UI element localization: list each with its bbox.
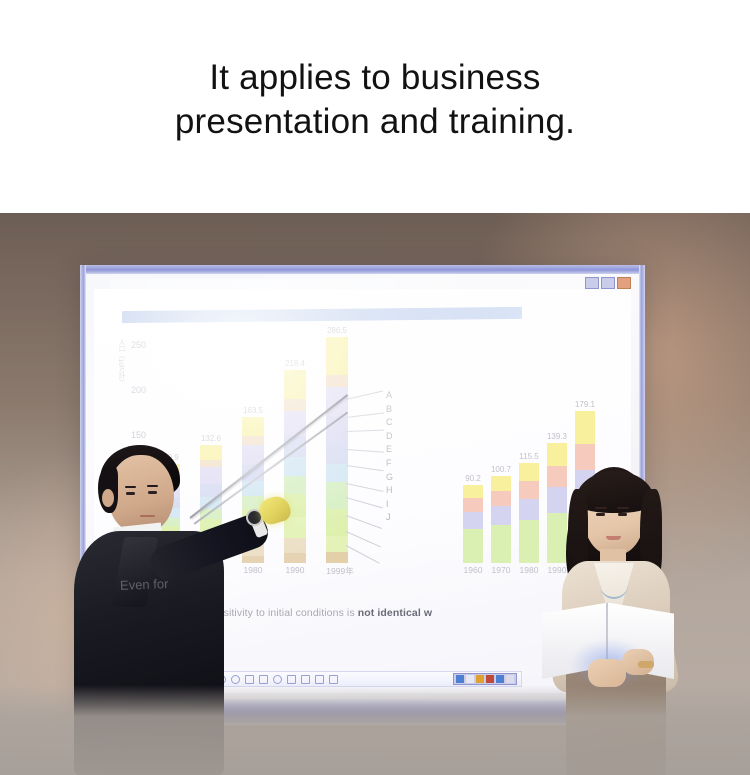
x-tick-1990: 1990 <box>286 565 305 575</box>
woman-eyebrow-left <box>595 507 607 509</box>
segment-L <box>491 491 511 507</box>
segment-base <box>463 529 483 563</box>
segment-E <box>284 457 306 476</box>
bar-value-label: 90.2 <box>465 474 481 483</box>
y-tick-150: 150 <box>131 430 146 440</box>
segment-G <box>326 482 348 509</box>
projected-text-on-suit: Even for <box>120 576 169 593</box>
bar-value-label: 115.5 <box>519 452 538 461</box>
segment-E <box>326 441 348 464</box>
legend-item-A: A <box>386 389 393 403</box>
man-ear <box>102 489 114 507</box>
bar-1999-left: 286.5 <box>326 337 348 563</box>
bar-value-label: 163.5 <box>243 406 263 415</box>
bar-value-label: 100.7 <box>491 465 511 474</box>
segment-H <box>284 517 306 538</box>
segment-J <box>326 552 348 563</box>
bar-value-label: 216.4 <box>285 359 305 368</box>
maximize-icon[interactable] <box>601 277 615 289</box>
segment-M <box>491 506 511 524</box>
y-tick-200: 200 <box>131 385 146 395</box>
y-axis-title: 人口（10万計） <box>114 339 124 385</box>
bar-value-label: 286.5 <box>327 326 347 335</box>
color-tool-icon[interactable] <box>476 675 484 683</box>
bar-value-label: 132.6 <box>201 434 221 443</box>
text-tool-icon[interactable] <box>466 675 474 683</box>
segment-M <box>463 512 483 528</box>
pen-icon[interactable] <box>273 675 282 684</box>
bar-value-label: 139.3 <box>547 432 567 441</box>
slide-title-banner <box>122 307 522 323</box>
x-tick-1960: 1960 <box>464 565 483 575</box>
arrow-icon[interactable] <box>329 675 338 684</box>
bar-1970-right: 100.7 <box>491 476 511 563</box>
segment-base <box>491 525 511 563</box>
man-eyebrow-left <box>125 486 136 488</box>
bar-1960-right: 90.2 <box>463 485 483 563</box>
page-title: It applies to business presentation and … <box>0 56 750 144</box>
woman-eyebrow-right <box>617 507 629 509</box>
segment-J <box>284 553 306 563</box>
segment-B <box>284 399 306 411</box>
bar-1990-left: 216.4 <box>284 370 306 563</box>
segment-K <box>575 411 595 444</box>
segment-A <box>284 370 306 399</box>
board-frame-top <box>80 265 645 274</box>
woman-eye-right <box>618 513 627 516</box>
segment-F <box>284 476 306 493</box>
y-tick-250: 250 <box>131 340 146 350</box>
woman-hand-left <box>588 659 626 687</box>
grid-icon[interactable] <box>496 675 504 683</box>
header-banner: It applies to business presentation and … <box>0 0 750 213</box>
blue-tool-icon[interactable] <box>456 675 464 683</box>
slash-icon[interactable] <box>301 675 310 684</box>
headline-line-1: It applies to business <box>209 58 540 97</box>
floor-band <box>0 685 750 775</box>
caption-emphasis: not identical w <box>358 607 432 619</box>
segment-C <box>284 411 306 436</box>
minimize-icon[interactable] <box>585 277 599 289</box>
segment-B <box>326 375 348 386</box>
segment-B <box>242 436 264 445</box>
menu-icon[interactable] <box>506 675 514 683</box>
pencil-icon[interactable] <box>315 675 324 684</box>
x-tick-1999: 1999年 <box>326 565 353 577</box>
woman-mouth <box>606 536 621 540</box>
eraser-icon[interactable] <box>287 675 296 684</box>
bar-value-label: 179.1 <box>575 400 595 409</box>
x-tick-1970: 1970 <box>492 565 511 575</box>
man-eye-right <box>148 491 157 494</box>
segment-A <box>326 337 348 375</box>
man-mouth <box>140 515 155 517</box>
woman-bracelet <box>638 661 654 668</box>
leader-line-C <box>346 430 384 432</box>
segment-A <box>242 417 264 436</box>
segment-L <box>463 498 483 512</box>
toolbar-button-group[interactable] <box>453 673 517 685</box>
man-eyebrow-right <box>147 485 158 487</box>
man-eye-left <box>126 492 135 495</box>
page-root: It applies to business presentation and … <box>0 0 750 775</box>
segment-K <box>491 476 511 491</box>
woman-eye-left <box>596 513 605 516</box>
headline-line-2: presentation and training. <box>0 100 750 144</box>
segment-F <box>326 464 348 482</box>
window-controls[interactable] <box>585 277 631 289</box>
presentation-photo: 人口（10万計） 250 200 150 100 50 0 110.9 <box>0 213 750 775</box>
stamp-icon[interactable] <box>486 675 494 683</box>
segment-I <box>284 538 306 553</box>
close-icon[interactable] <box>617 277 631 289</box>
segment-K <box>463 485 483 498</box>
segment-I <box>326 536 348 552</box>
